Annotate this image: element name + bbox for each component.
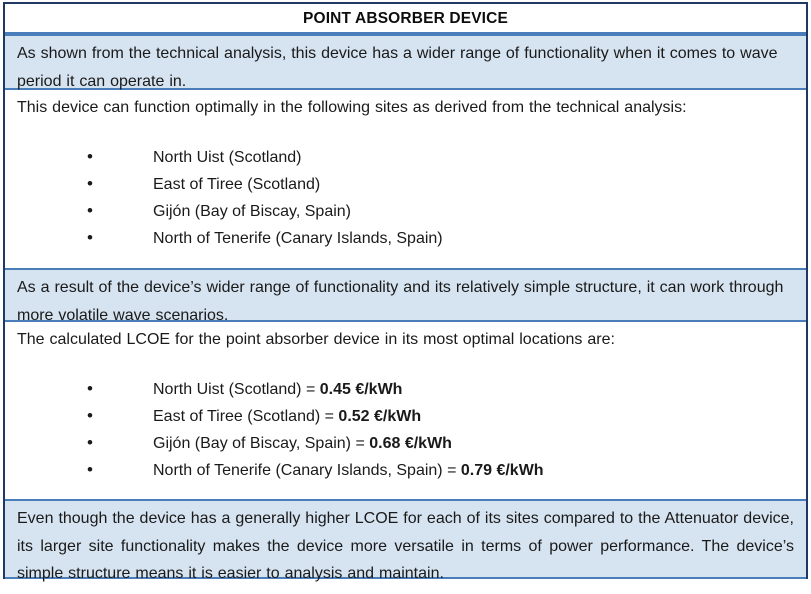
lcoe-site-label: Gijón (Bay of Biscay, Spain) = <box>153 435 369 452</box>
lcoe-lead-in: The calculated LCOE for the point absorb… <box>5 322 806 360</box>
intro-row: As shown from the technical analysis, th… <box>5 34 806 90</box>
list-item: North of Tenerife (Canary Islands, Spain… <box>5 457 806 484</box>
list-item: North Uist (Scotland) = 0.45 €/kWh <box>5 376 806 403</box>
summary-paragraph: Even though the device has a generally h… <box>5 501 806 594</box>
list-item: East of Tiree (Scotland) <box>5 171 806 198</box>
lcoe-list: North Uist (Scotland) = 0.45 €/kWh East … <box>5 376 806 484</box>
lcoe-site-label: North Uist (Scotland) = <box>153 381 320 398</box>
lcoe-value: 0.45 €/kWh <box>320 381 403 398</box>
lcoe-site-label: North of Tenerife (Canary Islands, Spain… <box>153 462 461 479</box>
optimal-sites-row: This device can function optimally in th… <box>5 90 806 268</box>
list-item: North Uist (Scotland) <box>5 144 806 171</box>
optimal-sites-list: North Uist (Scotland) East of Tiree (Sco… <box>5 144 806 252</box>
table-header-row: POINT ABSORBER DEVICE <box>5 4 806 34</box>
result-row: As a result of the device’s wider range … <box>5 268 806 322</box>
list-item: North of Tenerife (Canary Islands, Spain… <box>5 225 806 252</box>
summary-row: Even though the device has a generally h… <box>5 499 806 579</box>
list-item: Gijón (Bay of Biscay, Spain) <box>5 198 806 225</box>
lcoe-value: 0.52 €/kWh <box>338 408 421 425</box>
lcoe-value: 0.79 €/kWh <box>461 462 544 479</box>
optimal-sites-lead-in: This device can function optimally in th… <box>5 90 806 128</box>
list-item: East of Tiree (Scotland) = 0.52 €/kWh <box>5 403 806 430</box>
lcoe-value: 0.68 €/kWh <box>369 435 452 452</box>
lcoe-row: The calculated LCOE for the point absorb… <box>5 322 806 499</box>
point-absorber-device-table: POINT ABSORBER DEVICE As shown from the … <box>3 2 808 579</box>
list-item: Gijón (Bay of Biscay, Spain) = 0.68 €/kW… <box>5 430 806 457</box>
lcoe-site-label: East of Tiree (Scotland) = <box>153 408 338 425</box>
page-title: POINT ABSORBER DEVICE <box>5 4 806 32</box>
